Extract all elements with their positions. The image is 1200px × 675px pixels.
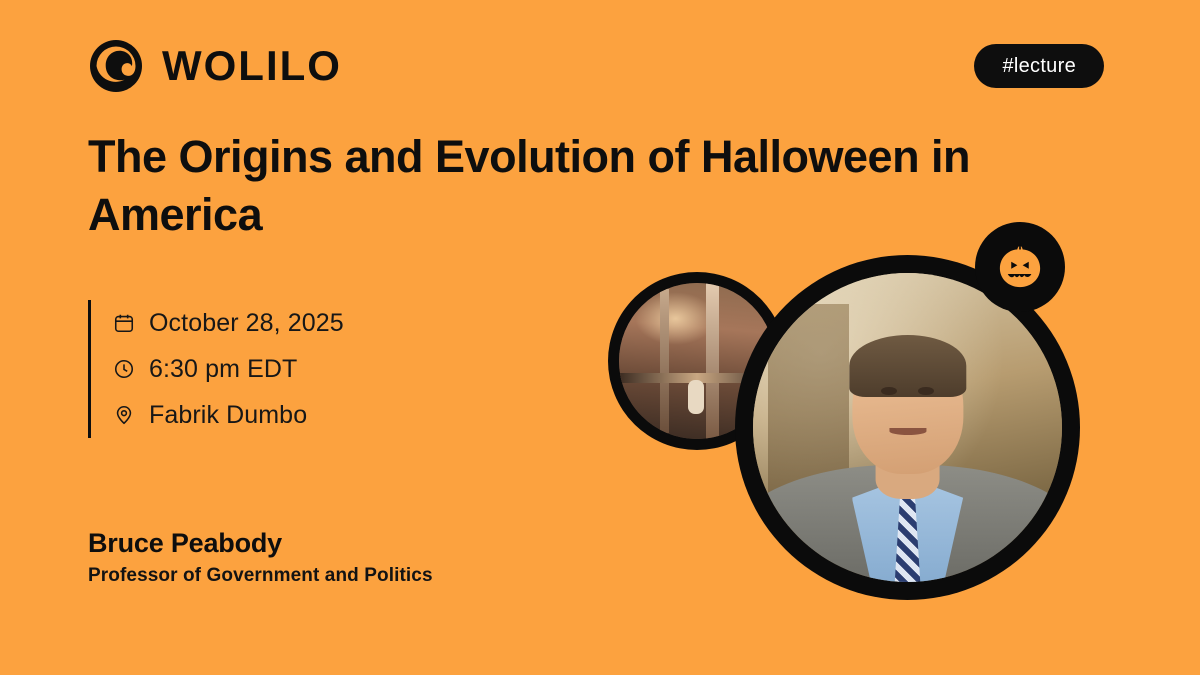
- detail-date-text: October 28, 2025: [149, 309, 344, 338]
- detail-time-text: 6:30 pm EDT: [149, 355, 297, 384]
- tag-badge[interactable]: #lecture: [974, 44, 1104, 88]
- calendar-icon: [113, 312, 135, 334]
- brand-name: WOLILO: [162, 42, 342, 90]
- detail-location-text: Fabrik Dumbo: [149, 401, 307, 430]
- speaker-name: Bruce Peabody: [88, 528, 433, 559]
- event-title: The Origins and Evolution of Halloween i…: [88, 128, 1088, 243]
- detail-row-location: Fabrik Dumbo: [113, 392, 344, 438]
- speaker-role: Professor of Government and Politics: [88, 565, 433, 587]
- ship-rigging-photo: [608, 272, 786, 450]
- speaker-portrait-photo: [735, 255, 1080, 600]
- clock-icon: [113, 358, 135, 380]
- location-pin-icon: [113, 404, 135, 426]
- speaker-block: Bruce Peabody Professor of Government an…: [88, 528, 433, 587]
- detail-row-date: October 28, 2025: [113, 300, 344, 346]
- wolilo-swirl-logo-icon: [88, 38, 144, 94]
- detail-row-time: 6:30 pm EDT: [113, 346, 344, 392]
- event-details: October 28, 2025 6:30 pm EDT Fabrik Dumb…: [88, 300, 344, 438]
- brand-logo: WOLILO: [88, 38, 342, 94]
